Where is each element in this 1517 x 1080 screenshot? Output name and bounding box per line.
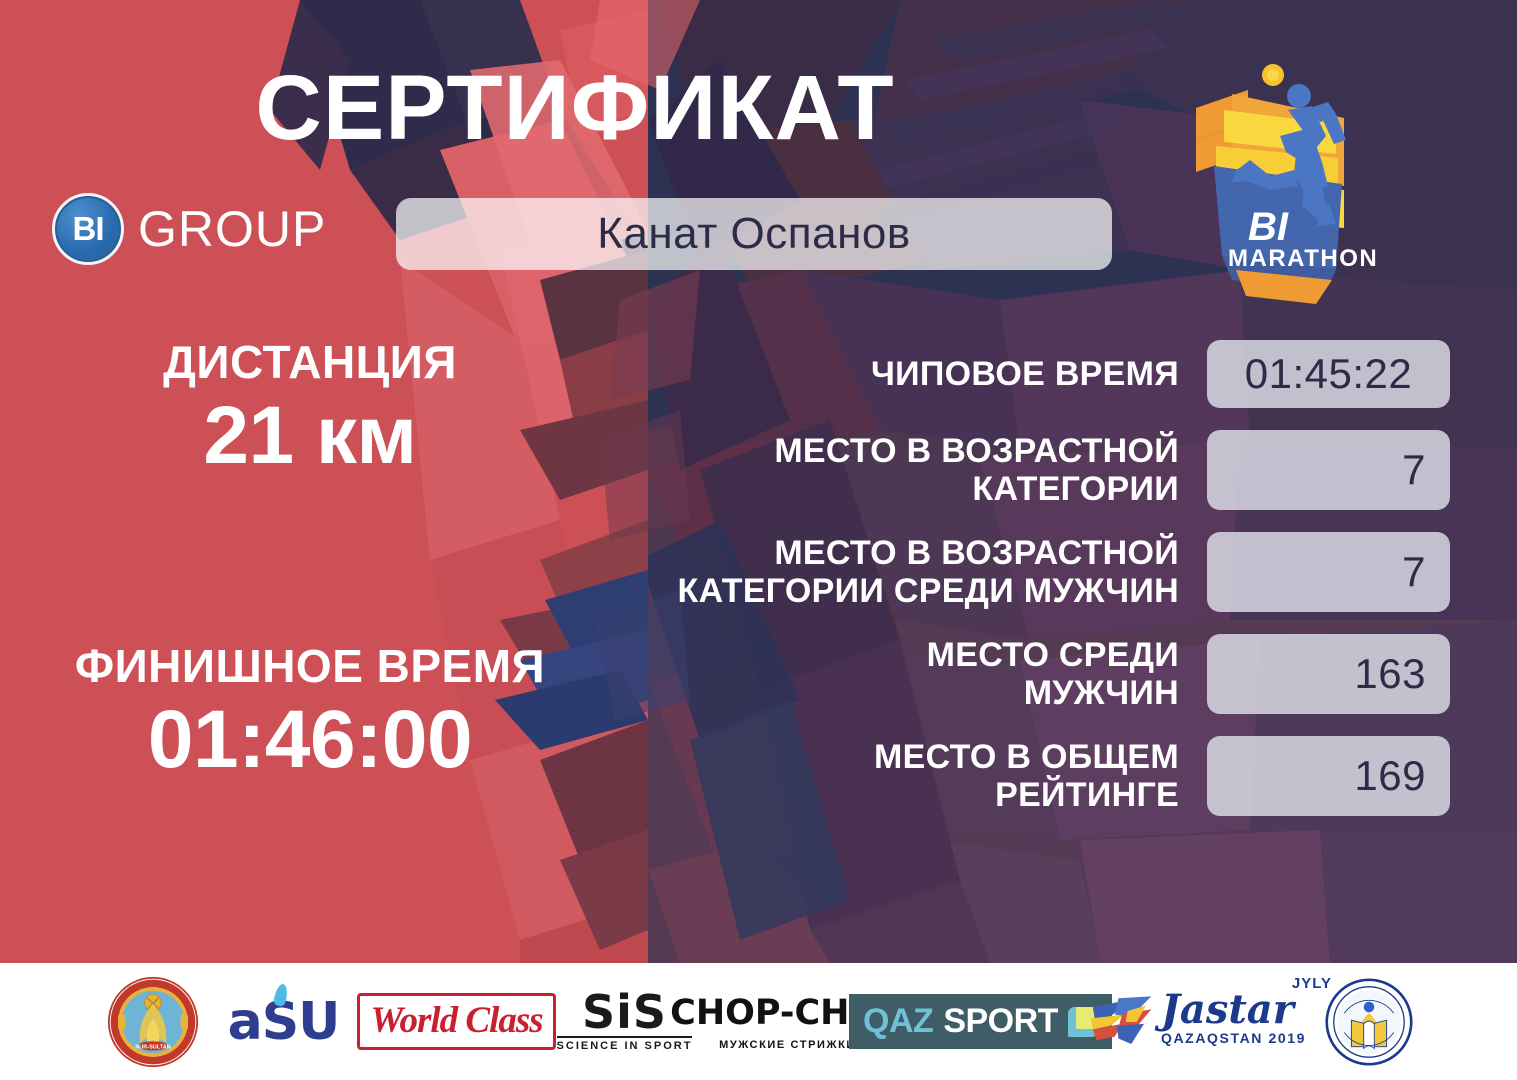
stat-label-overall-place: МЕСТО В ОБЩЕМ РЕЙТИНГЕ bbox=[640, 738, 1207, 814]
stat-row: МЕСТО В ОБЩЕМ РЕЙТИНГЕ 169 bbox=[640, 736, 1450, 816]
jastar-wordmark: Jastar bbox=[1161, 992, 1306, 1028]
bi-badge-icon: BI bbox=[52, 193, 124, 265]
qazsport-qaz-text: QAZ bbox=[863, 1002, 933, 1041]
athlete-name: Канат Оспанов bbox=[597, 209, 910, 259]
stat-label-age-category-place: МЕСТО В ВОЗРАСТНОЙ КАТЕГОРИИ bbox=[640, 432, 1207, 508]
sponsor-world-class: World Class bbox=[359, 974, 555, 1070]
distance-value: 21 км bbox=[60, 390, 560, 482]
marathon-word-text: MARATHON bbox=[1228, 245, 1378, 272]
stat-value-chip-time: 01:45:22 bbox=[1245, 350, 1413, 398]
jastar-subtitle: QAZAQSTAN 2019 bbox=[1161, 1030, 1306, 1046]
bi-marathon-logo: BI MARATHON bbox=[1176, 58, 1384, 308]
sponsor-footer: NUR-SULTAN aSU World Class SiS SCIENCE I… bbox=[0, 963, 1517, 1080]
stat-value-age-category-men-place: 7 bbox=[1402, 548, 1426, 596]
chop-chop-tagline: МУЖСКИЕ СТРИЖКИ bbox=[719, 1039, 856, 1051]
marathon-bi-text: BI bbox=[1248, 205, 1289, 249]
stat-value-men-place: 163 bbox=[1354, 650, 1426, 698]
left-summary-column: ДИСТАНЦИЯ 21 км ФИНИШНОЕ ВРЕМЯ 01:46:00 bbox=[60, 338, 560, 786]
finish-time-value: 01:46:00 bbox=[60, 694, 560, 786]
sponsor-qazsport: QAZ SPORT bbox=[881, 974, 1081, 1070]
jastar-bird-icon bbox=[1091, 994, 1155, 1050]
stat-row: МЕСТО В ВОЗРАСТНОЙ КАТЕГОРИИ 7 bbox=[640, 430, 1450, 510]
nur-sultan-label: NUR-SULTAN bbox=[135, 1044, 170, 1050]
bi-group-wordmark: GROUP bbox=[138, 200, 326, 258]
sponsor-nur-sultan-emblem: NUR-SULTAN bbox=[97, 974, 209, 1070]
stat-row: МЕСТО СРЕДИ МУЖЧИН 163 bbox=[640, 634, 1450, 714]
world-class-wordmark: World Class bbox=[370, 999, 542, 1042]
stat-pill-overall-place: 169 bbox=[1207, 736, 1450, 816]
bi-group-logo: BI GROUP bbox=[52, 193, 326, 265]
stat-row: МЕСТО В ВОЗРАСТНОЙ КАТЕГОРИИ СРЕДИ МУЖЧИ… bbox=[640, 532, 1450, 612]
stat-pill-chip-time: 01:45:22 bbox=[1207, 340, 1450, 408]
certificate-canvas: СЕРТИФИКАТ BI GROUP Канат Оспанов bbox=[0, 0, 1517, 1080]
sis-wordmark: SiS bbox=[582, 991, 667, 1035]
results-stats-list: ЧИПОВОЕ ВРЕМЯ 01:45:22 МЕСТО В ВОЗРАСТНО… bbox=[640, 340, 1450, 838]
stat-label-men-place: МЕСТО СРЕДИ МУЖЧИН bbox=[640, 636, 1207, 712]
distance-caption: ДИСТАНЦИЯ bbox=[60, 338, 560, 386]
stat-pill-men-place: 163 bbox=[1207, 634, 1450, 714]
qazsport-sport-text: SPORT bbox=[943, 1002, 1058, 1041]
stat-label-chip-time: ЧИПОВОЕ ВРЕМЯ bbox=[640, 355, 1207, 393]
stat-value-age-category-place: 7 bbox=[1402, 446, 1426, 494]
sponsor-asu: aSU bbox=[209, 974, 359, 1070]
stat-row: ЧИПОВОЕ ВРЕМЯ 01:45:22 bbox=[640, 340, 1450, 408]
sis-tagline: SCIENCE IN SPORT bbox=[557, 1036, 693, 1052]
page-title: СЕРТИФИКАТ bbox=[0, 62, 1150, 154]
distance-block: ДИСТАНЦИЯ 21 км bbox=[60, 338, 560, 482]
sponsor-ministry-seal bbox=[1317, 974, 1421, 1070]
finish-time-block: ФИНИШНОЕ ВРЕМЯ 01:46:00 bbox=[60, 642, 560, 786]
stat-pill-age-category-place: 7 bbox=[1207, 430, 1450, 510]
sponsor-jastar: JYLY Jastar QAZAQSTAN 2019 bbox=[1081, 974, 1317, 1070]
stat-value-overall-place: 169 bbox=[1354, 752, 1426, 800]
stat-label-age-category-men-place: МЕСТО В ВОЗРАСТНОЙ КАТЕГОРИИ СРЕДИ МУЖЧИ… bbox=[640, 534, 1207, 610]
stat-pill-age-category-men-place: 7 bbox=[1207, 532, 1450, 612]
finish-time-caption: ФИНИШНОЕ ВРЕМЯ bbox=[60, 642, 560, 690]
athlete-name-banner: Канат Оспанов bbox=[396, 198, 1112, 270]
